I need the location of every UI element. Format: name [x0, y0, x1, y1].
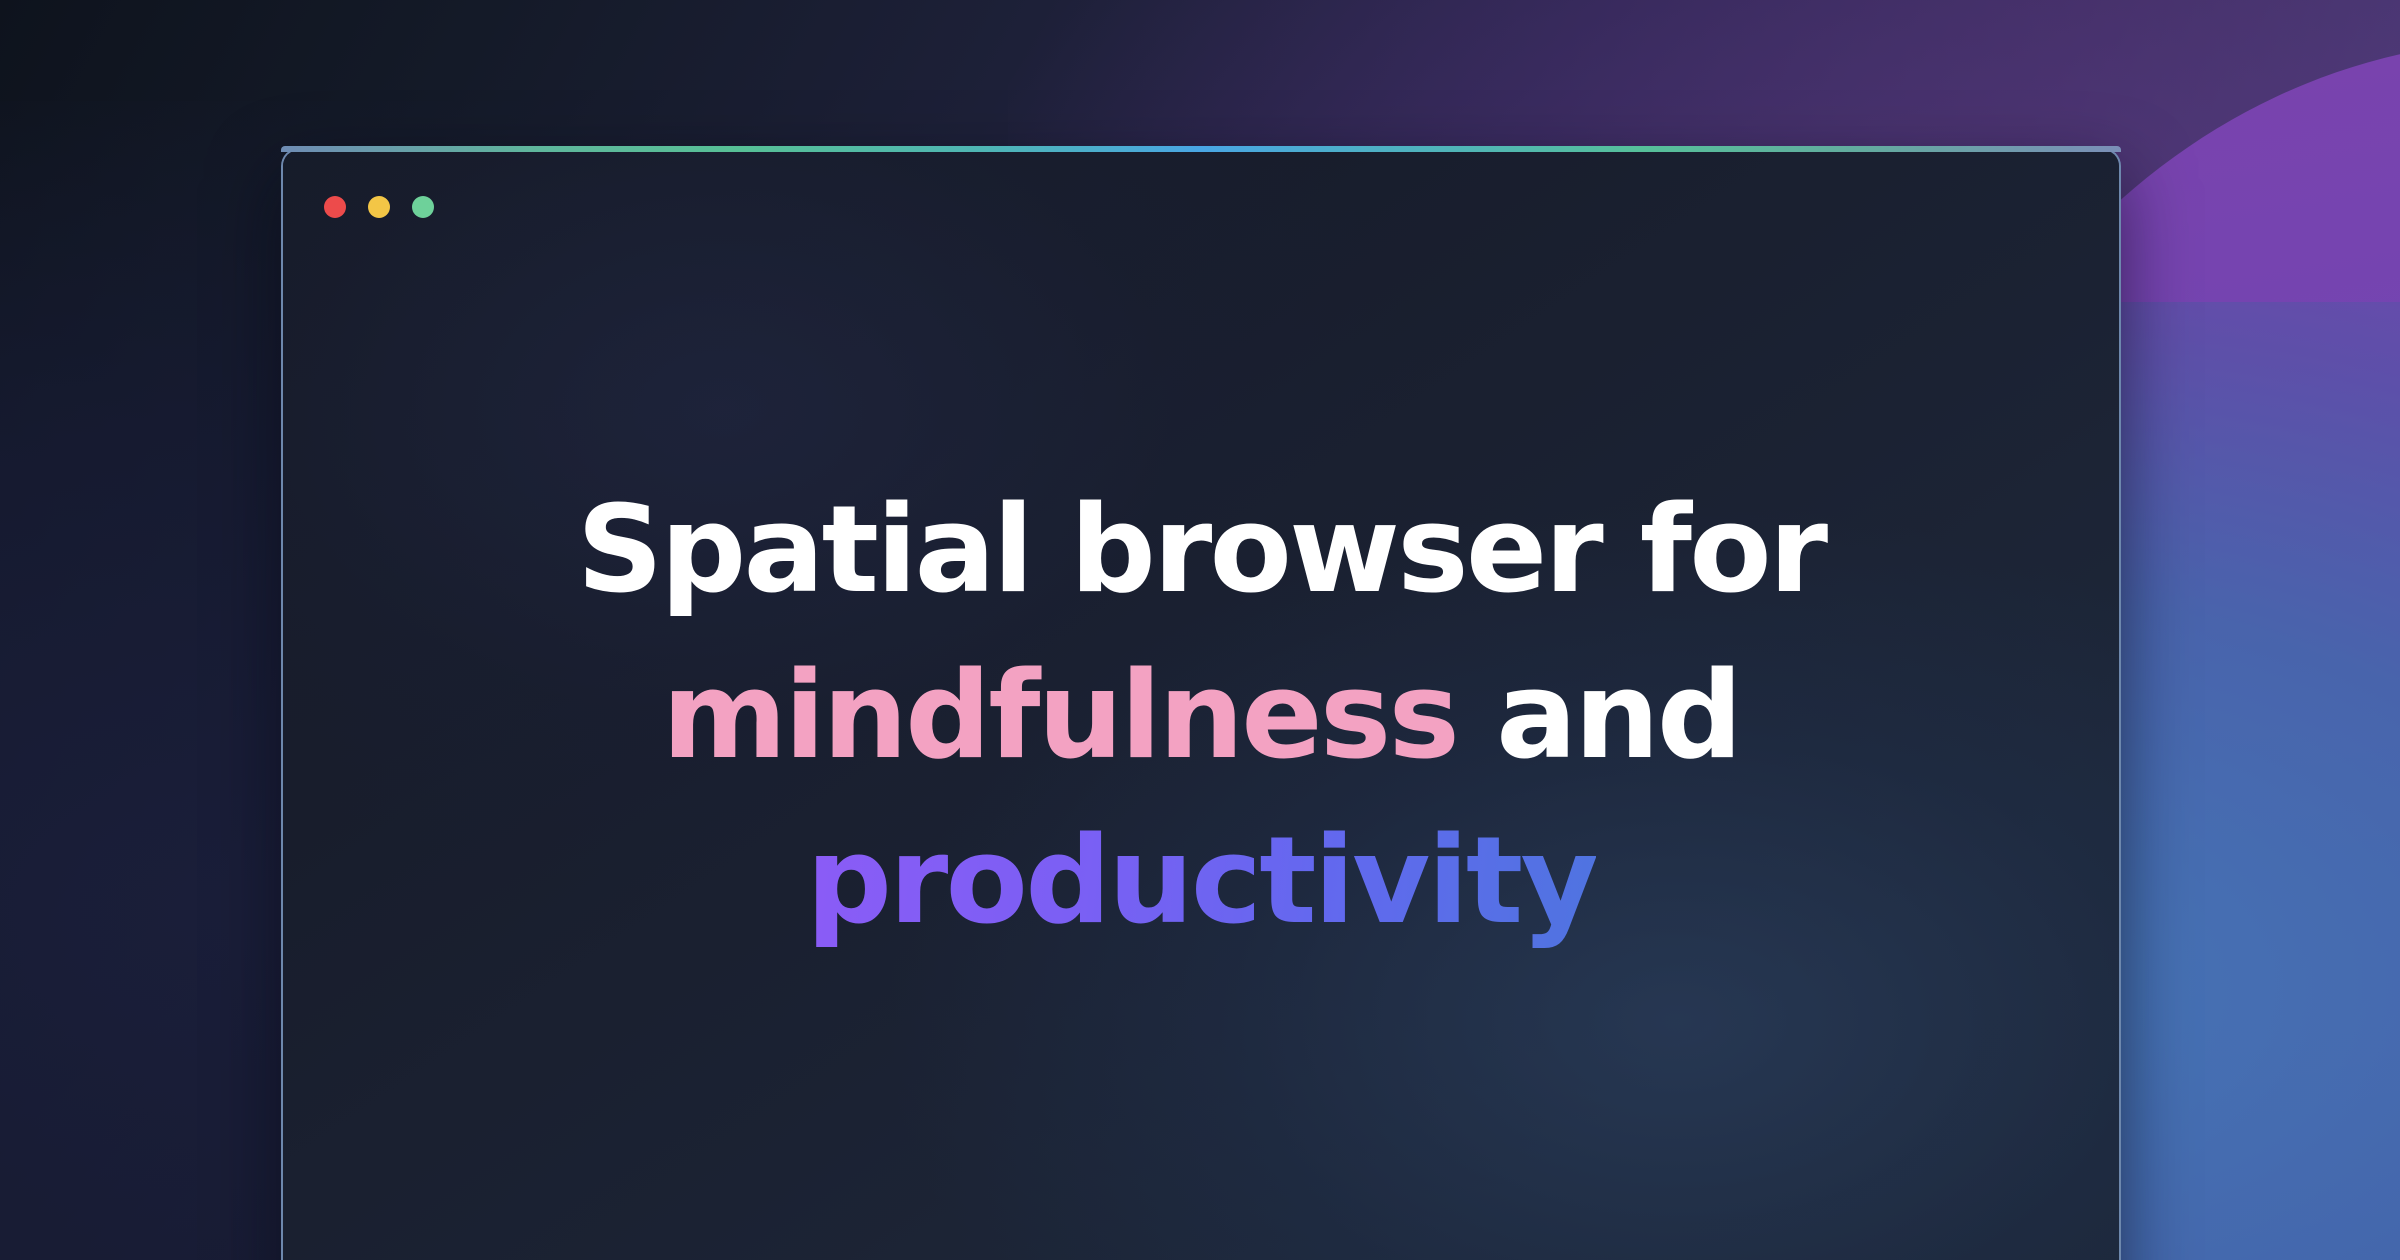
browser-window: Spatial browser for mindfulness and prod…: [281, 148, 2121, 1260]
maximize-icon[interactable]: [412, 196, 434, 218]
traffic-light-group: [324, 196, 434, 218]
close-icon[interactable]: [324, 196, 346, 218]
minimize-icon[interactable]: [368, 196, 390, 218]
window-accent-bar: [281, 146, 2121, 152]
window-content-area: [283, 150, 2119, 1260]
screenshot-root: Spatial browser for mindfulness and prod…: [0, 0, 2400, 1260]
